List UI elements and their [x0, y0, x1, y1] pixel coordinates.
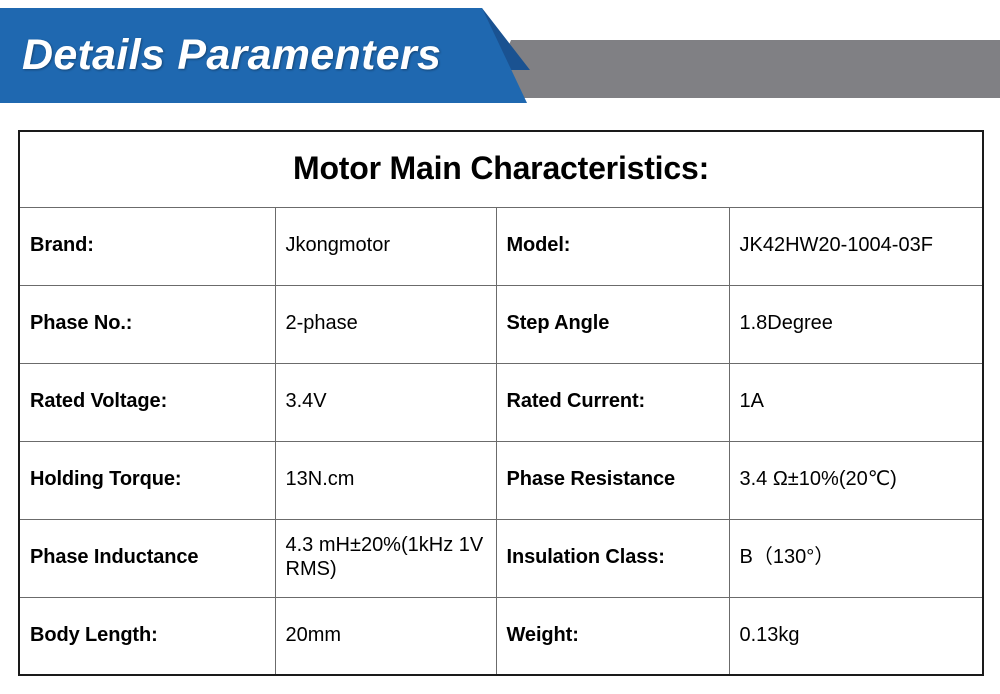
- spec-label: Brand:: [19, 207, 275, 285]
- specs-table-container: Motor Main Characteristics: Brand: Jkong…: [18, 130, 982, 672]
- spec-value: Jkongmotor: [275, 207, 496, 285]
- spec-label: Rated Voltage:: [19, 363, 275, 441]
- spec-value: 2-phase: [275, 285, 496, 363]
- table-row: Holding Torque: 13N.cm Phase Resistance …: [19, 441, 983, 519]
- spec-value: B（130°）: [729, 519, 983, 597]
- spec-label: Holding Torque:: [19, 441, 275, 519]
- spec-label: Body Length:: [19, 597, 275, 675]
- table-row: Rated Voltage: 3.4V Rated Current: 1A: [19, 363, 983, 441]
- motor-specifications-table: Motor Main Characteristics: Brand: Jkong…: [18, 130, 984, 676]
- spec-value: 4.3 mH±20%(1kHz 1V RMS): [275, 519, 496, 597]
- table-title: Motor Main Characteristics:: [293, 150, 709, 186]
- banner-gray-bar: [487, 40, 1000, 98]
- spec-label: Weight:: [496, 597, 729, 675]
- table-row: Brand: Jkongmotor Model: JK42HW20-1004-0…: [19, 207, 983, 285]
- spec-value: 0.13kg: [729, 597, 983, 675]
- spec-label: Insulation Class:: [496, 519, 729, 597]
- spec-value: 13N.cm: [275, 441, 496, 519]
- spec-value: 3.4 Ω±10%(20℃): [729, 441, 983, 519]
- spec-value: 1.8Degree: [729, 285, 983, 363]
- spec-label: Phase Inductance: [19, 519, 275, 597]
- spec-value: 3.4V: [275, 363, 496, 441]
- spec-label: Phase No.:: [19, 285, 275, 363]
- table-row: Body Length: 20mm Weight: 0.13kg: [19, 597, 983, 675]
- table-header-cell: Motor Main Characteristics:: [19, 131, 983, 207]
- table-row: Phase No.: 2-phase Step Angle 1.8Degree: [19, 285, 983, 363]
- table-row: Phase Inductance 4.3 mH±20%(1kHz 1V RMS)…: [19, 519, 983, 597]
- spec-value: 20mm: [275, 597, 496, 675]
- spec-label: Step Angle: [496, 285, 729, 363]
- spec-label: Rated Current:: [496, 363, 729, 441]
- page-banner: Details Paramenters: [0, 0, 1000, 112]
- spec-label: Phase Resistance: [496, 441, 729, 519]
- spec-value: JK42HW20-1004-03F: [729, 207, 983, 285]
- spec-value: 1A: [729, 363, 983, 441]
- table-header-row: Motor Main Characteristics:: [19, 131, 983, 207]
- spec-label: Model:: [496, 207, 729, 285]
- banner-title: Details Paramenters: [22, 22, 482, 88]
